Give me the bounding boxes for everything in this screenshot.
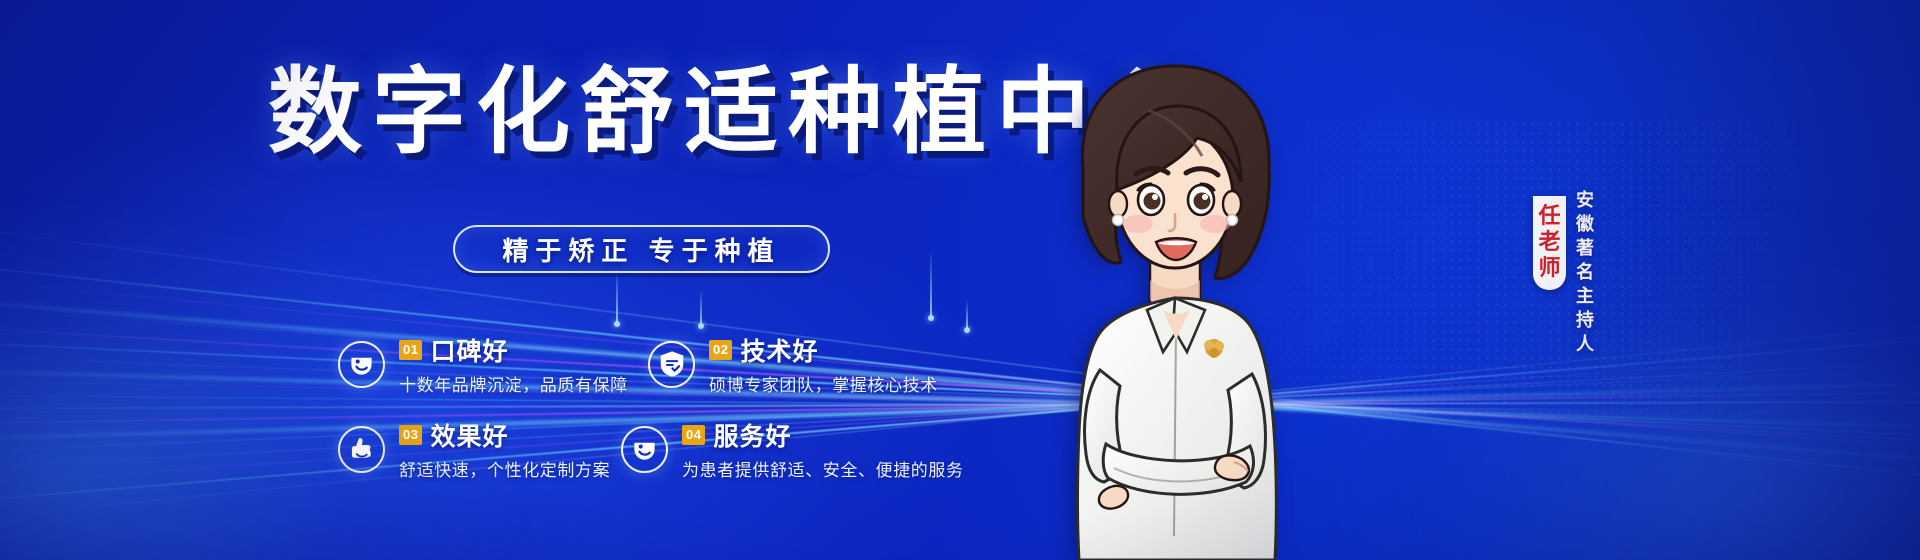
feature-desc: 十数年品牌沉淀，品质有保障 bbox=[399, 371, 628, 396]
feature-head: 02 技术好 bbox=[709, 332, 938, 368]
feature-head: 04 服务好 bbox=[682, 417, 964, 453]
spokesperson-portrait bbox=[1028, 48, 1328, 560]
feature-number: 04 bbox=[682, 425, 705, 445]
thumbs-up-icon bbox=[338, 426, 385, 473]
feature-text: 04 服务好 为患者提供舒适、安全、便捷的服务 bbox=[682, 417, 964, 481]
spokesperson-name-tag: 任 老 师 bbox=[1533, 196, 1566, 290]
subtitle-text: 精于矫正 专于种植 bbox=[502, 231, 780, 268]
feature-desc: 硕博专家团队，掌握核心技术 bbox=[709, 371, 938, 396]
dental-center-banner: 数字化舒适种植中心 精于矫正 专于种植 01 口碑好 bbox=[0, 0, 1920, 560]
feature-head: 03 效果好 bbox=[399, 417, 610, 453]
feature-title: 口碑好 bbox=[430, 332, 508, 368]
feature-desc: 为患者提供舒适、安全、便捷的服务 bbox=[682, 456, 964, 481]
feature-head: 01 口碑好 bbox=[399, 332, 628, 368]
smile-face-icon bbox=[621, 426, 668, 473]
feature-item-02: 02 技术好 硕博专家团队，掌握核心技术 bbox=[648, 332, 938, 396]
spokesperson-credit: 安徽著名主持人 bbox=[1571, 190, 1597, 358]
name-char-0: 任 bbox=[1533, 203, 1566, 229]
subtitle-badge: 精于矫正 专于种植 bbox=[453, 225, 830, 273]
feature-title: 服务好 bbox=[713, 417, 791, 453]
feature-number: 03 bbox=[399, 425, 422, 445]
feature-text: 03 效果好 舒适快速，个性化定制方案 bbox=[399, 417, 610, 481]
name-char-1: 老 bbox=[1533, 229, 1566, 255]
feature-number: 02 bbox=[709, 340, 732, 360]
smile-face-icon bbox=[338, 341, 385, 388]
feature-desc: 舒适快速，个性化定制方案 bbox=[399, 456, 610, 481]
feature-title: 技术好 bbox=[740, 332, 818, 368]
feature-item-03: 03 效果好 舒适快速，个性化定制方案 bbox=[338, 417, 610, 481]
feature-number: 01 bbox=[399, 340, 422, 360]
feature-item-01: 01 口碑好 十数年品牌沉淀，品质有保障 bbox=[338, 332, 628, 396]
feature-item-04: 04 服务好 为患者提供舒适、安全、便捷的服务 bbox=[621, 417, 964, 481]
feature-text: 02 技术好 硕博专家团队，掌握核心技术 bbox=[709, 332, 938, 396]
shield-check-icon bbox=[648, 341, 695, 388]
name-char-2: 师 bbox=[1533, 255, 1566, 281]
feature-text: 01 口碑好 十数年品牌沉淀，品质有保障 bbox=[399, 332, 628, 396]
feature-title: 效果好 bbox=[430, 417, 508, 453]
